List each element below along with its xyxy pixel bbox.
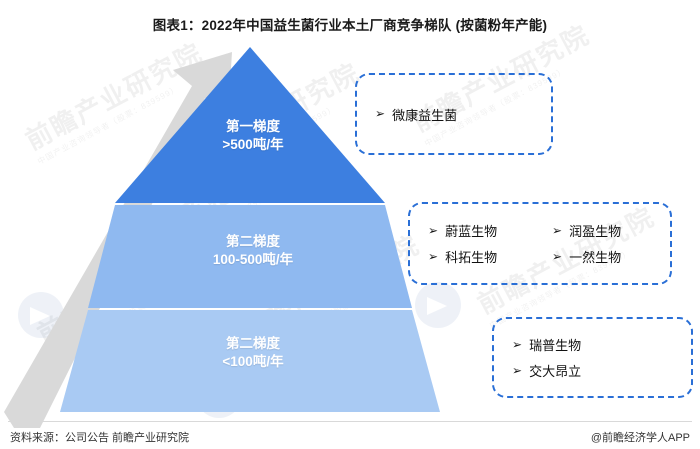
company-item: ➢ 瑞普生物 [512,335,691,354]
company-name: 一然生物 [569,247,621,266]
company-item: ➢ 润盈生物 [552,221,670,240]
company-name: 交大昂立 [529,361,581,380]
tier-2-label: 第二梯度 100-500吨/年 [133,233,373,269]
arrow-bullet-icon: ➢ [552,224,562,236]
tier-1-capacity: >500吨/年 [163,136,343,154]
arrow-bullet-icon: ➢ [512,364,522,376]
company-name: 科拓生物 [445,247,497,266]
footer-divider [8,421,692,422]
arrow-bullet-icon: ➢ [512,338,522,350]
tier-1-label: 第一梯度 >500吨/年 [163,118,343,154]
tier-1-company-callout: ➢ 微康益生菌 [355,73,553,155]
tier-3-capacity: <100吨/年 [123,353,383,371]
source-note: 资料来源：公司公告 前瞻产业研究院 [10,429,189,445]
page-title: 图表1：2022年中国益生菌行业本土厂商竞争梯队 (按菌粉年产能) [0,14,700,34]
company-item: ➢ 科拓生物 [428,247,552,266]
company-item: ➢ 一然生物 [552,247,670,266]
arrow-bullet-icon: ➢ [428,224,438,236]
company-item: ➢ 微康益生菌 [375,105,551,124]
company-name: 润盈生物 [569,221,621,240]
arrow-bullet-icon: ➢ [375,108,385,120]
company-item: ➢ 蔚蓝生物 [428,221,552,240]
arrow-bullet-icon: ➢ [428,250,438,262]
company-name: 微康益生菌 [392,105,457,124]
company-item: ➢ 交大昂立 [512,361,691,380]
tier-2-company-callout: ➢ 蔚蓝生物 ➢ 润盈生物 ➢ 科拓生物 ➢ 一然生物 [408,202,672,285]
company-name: 瑞普生物 [529,335,581,354]
tier-2-name: 第二梯度 [133,233,373,251]
tier-3-company-callout: ➢ 瑞普生物 ➢ 交大昂立 [492,317,693,398]
arrow-bullet-icon: ➢ [552,250,562,262]
tier-3-name: 第二梯度 [123,335,383,353]
tier-3-label: 第二梯度 <100吨/年 [123,335,383,371]
tier-1-name: 第一梯度 [163,118,343,136]
infographic-canvas: 图表1：2022年中国益生菌行业本土厂商竞争梯队 (按菌粉年产能) 前瞻产业研究… [0,0,700,449]
tier-2-capacity: 100-500吨/年 [133,251,373,269]
app-credit: @前瞻经济学人APP [591,429,690,445]
company-name: 蔚蓝生物 [445,221,497,240]
